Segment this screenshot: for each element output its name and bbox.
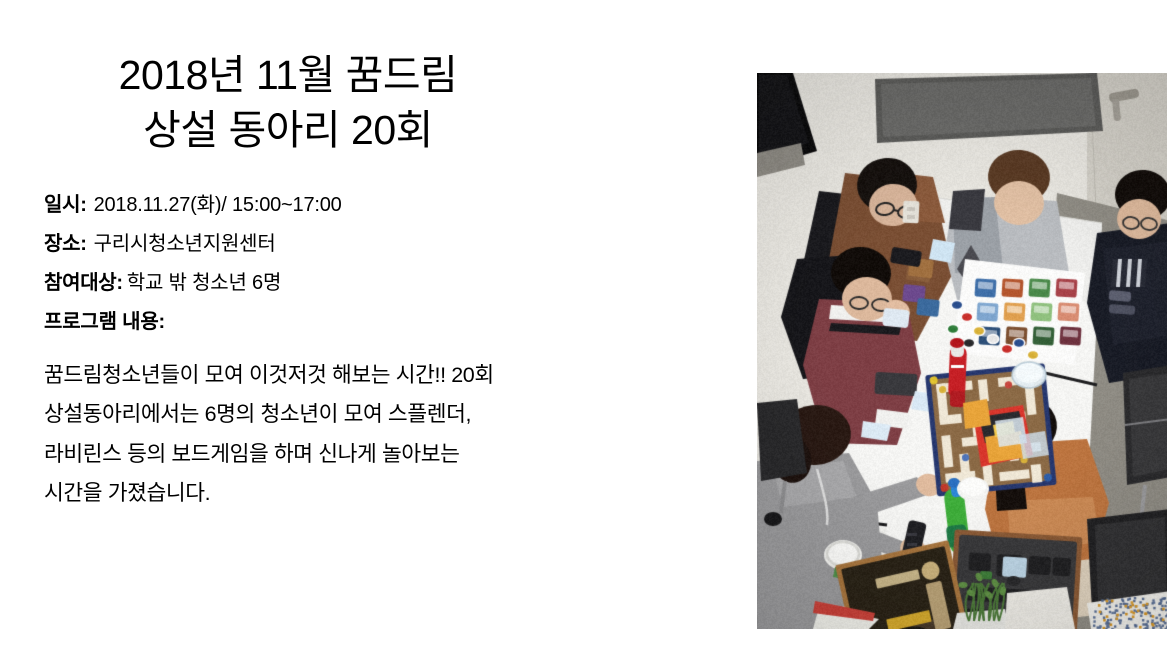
- details-block: 일시:2018.11.27(화)/ 15:00~17:00 장소:구리시청소년지…: [44, 195, 554, 332]
- detail-row-datetime: 일시:2018.11.27(화)/ 15:00~17:00: [44, 195, 554, 215]
- detail-row-participants: 참여대상:학교 밖 청소년 6명: [44, 273, 554, 293]
- detail-label-location: 장소:: [44, 233, 87, 255]
- poster-page: 2018년 11월 꿈드림 상설 동아리 20회 일시:2018.11.27(화…: [0, 0, 1167, 661]
- photo-canvas: [757, 73, 1167, 629]
- program-description: 꿈드림청소년들이 모여 이것저것 해보는 시간!! 20회 상설동아리에서는 6…: [44, 356, 514, 513]
- detail-value-participants: 학교 밖 청소년 6명: [127, 272, 281, 294]
- board-game-activity-photo: [757, 73, 1167, 629]
- detail-label-datetime: 일시:: [44, 194, 87, 216]
- detail-value-location: 구리시청소년지원센터: [94, 233, 276, 255]
- text-column: 2018년 11월 꿈드림 상설 동아리 20회 일시:2018.11.27(화…: [44, 48, 554, 535]
- detail-label-program: 프로그램 내용:: [44, 311, 165, 333]
- page-title: 2018년 11월 꿈드림 상설 동아리 20회: [44, 48, 554, 157]
- detail-value-datetime: 2018.11.27(화)/ 15:00~17:00: [94, 194, 342, 216]
- detail-row-location: 장소:구리시청소년지원센터: [44, 234, 554, 254]
- detail-row-program: 프로그램 내용:: [44, 312, 554, 332]
- detail-label-participants: 참여대상:: [44, 272, 123, 294]
